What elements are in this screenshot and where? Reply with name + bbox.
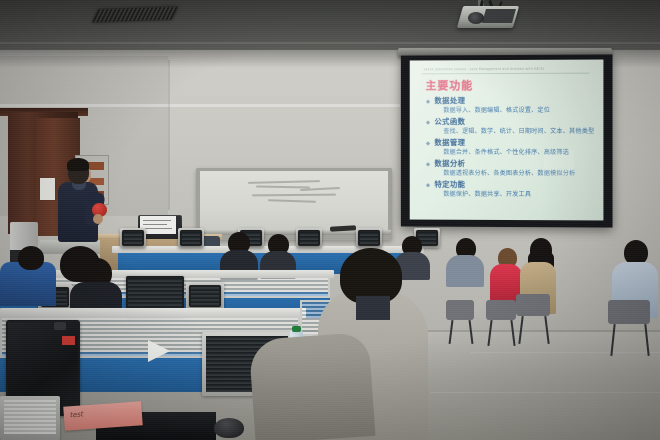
person-head <box>18 246 44 270</box>
monitor-screen <box>358 230 380 246</box>
bullet-detail: 查找、逻辑、数学、统计、日期时间、文本、其他类型 <box>426 127 602 136</box>
monitor-screen <box>4 400 56 434</box>
red-sticker <box>62 336 75 345</box>
bullet-heading: 数据处理 <box>426 96 602 106</box>
slide-bullet-list: 数据处理 数据导入、数据编辑、格式设置、定位 公式函数 查找、逻辑、数学、统计、… <box>426 96 602 202</box>
projector-top-shell <box>482 9 516 23</box>
bullet-detail: 数据透视表分析、各类图表分析、数据模拟分析 <box>426 169 602 178</box>
chair <box>486 300 516 320</box>
monitor-screen <box>189 285 221 307</box>
slide-header-line: xxxxx xxxxxxxxx xxxxxx · xxxx Management… <box>424 67 545 72</box>
bullet-heading: 数据分析 <box>426 159 602 169</box>
monitor-screen <box>122 230 144 246</box>
chair <box>516 294 550 316</box>
slide-header-rule <box>422 73 590 75</box>
slide-title: 主要功能 <box>426 77 474 93</box>
wall-corner-edge <box>168 60 170 210</box>
ceiling-seam <box>0 42 660 44</box>
foreground-person-grey-arm <box>249 332 376 440</box>
student-head-dark <box>60 246 100 282</box>
person-collar <box>356 296 390 320</box>
classroom-photo: xxxxx xxxxxxxxx xxxxxx · xxxx Management… <box>0 0 660 440</box>
desk-top <box>0 308 306 318</box>
list-item: 特定功能 数据保护、数据共享、开发工具 <box>426 180 602 200</box>
wall-trim <box>0 104 400 107</box>
list-item: 数据分析 数据透视表分析、各类图表分析、数据模拟分析 <box>426 159 602 178</box>
door-notice-paper <box>40 178 55 200</box>
screen-reflection <box>544 150 574 176</box>
bullet-detail: 数据导入、数据编辑、格式设置、定位 <box>426 106 602 115</box>
list-item: 数据处理 数据导入、数据编辑、格式设置、定位 <box>426 96 602 115</box>
presenter-hand <box>93 214 103 224</box>
list-item: 数据管理 数据合并、条件格式、个性化排序、高级筛选 <box>426 138 602 157</box>
chair <box>608 300 650 324</box>
bullet-detail: 数据合并、条件格式、个性化排序、高级筛选 <box>426 148 602 157</box>
chair <box>446 300 474 320</box>
bullet-heading: 公式函数 <box>426 117 602 127</box>
monitor-screen <box>180 230 202 246</box>
projection-screen: xxxxx xxxxxxxxx xxxxxx · xxxx Management… <box>401 54 613 227</box>
monitor-bezel-detail <box>54 322 66 330</box>
bullet-heading: 特定功能 <box>426 180 602 190</box>
presenter-hair <box>67 158 89 171</box>
student-body <box>446 255 484 287</box>
projector-lens-icon <box>468 12 484 24</box>
slide-surface: xxxxx xxxxxxxxx xxxxxx · xxxx Management… <box>410 60 604 221</box>
paper-note-triangle <box>148 340 170 362</box>
floor-tile-line <box>430 392 660 393</box>
floor-tile-line <box>470 352 660 353</box>
computer-mouse <box>214 418 244 438</box>
list-item: 公式函数 查找、逻辑、数学、统计、日期时间、文本、其他类型 <box>426 117 602 136</box>
bullet-detail: 数据保护、数据共享、开发工具 <box>426 190 602 200</box>
bullet-heading: 数据管理 <box>426 138 602 148</box>
monitor-screen <box>298 230 320 246</box>
bottle-cap <box>292 326 301 332</box>
